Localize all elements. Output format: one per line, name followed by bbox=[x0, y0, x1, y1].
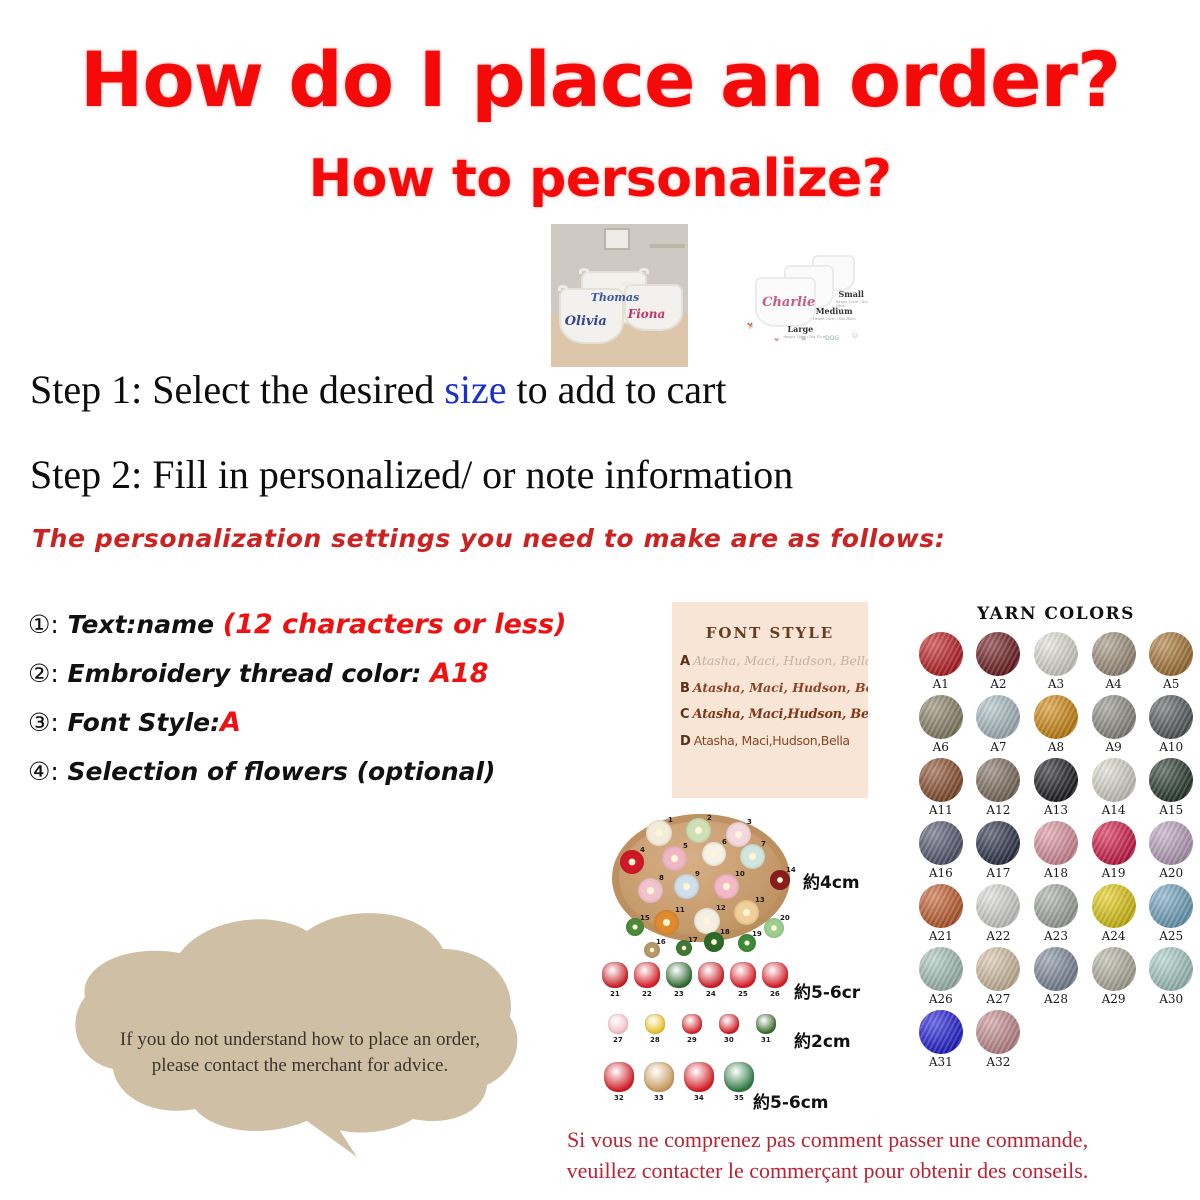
yarn-swatch-a17[interactable]: A17 bbox=[970, 821, 1028, 880]
font-style-title: FONT STYLE bbox=[672, 624, 868, 642]
yarn-swatch-a12[interactable]: A12 bbox=[970, 758, 1028, 817]
yarn-swatch-a9[interactable]: A9 bbox=[1085, 695, 1143, 754]
basket-size-chart-photo: Charlie Small Height 12cm / Dia 20cm Med… bbox=[742, 228, 876, 350]
dog-doodle-icon: 🐕 bbox=[747, 323, 754, 330]
yarn-ball-icon bbox=[919, 1010, 963, 1054]
flower-charms-board: 1234567891011121314151617181920 21222324… bbox=[598, 812, 908, 1122]
charm-number-label: 32 bbox=[614, 1094, 624, 1102]
size-sub-medium: Height 15cm / Dia 26cm bbox=[813, 317, 856, 321]
yarn-ball-icon bbox=[1092, 947, 1136, 991]
yarn-code-label: A25 bbox=[1159, 929, 1183, 943]
charm-santa-head-34[interactable] bbox=[684, 1062, 714, 1092]
charm-pine-tree-35[interactable] bbox=[724, 1062, 754, 1092]
yarn-code-label: A32 bbox=[986, 1055, 1010, 1069]
yarn-swatch-a26[interactable]: A26 bbox=[912, 947, 970, 1006]
charm-number-label: 4 bbox=[640, 846, 645, 854]
size-note-2cm: 約2cm bbox=[794, 1027, 851, 1052]
yarn-ball-icon bbox=[1034, 821, 1078, 865]
yarn-code-label: A9 bbox=[1105, 740, 1121, 754]
yarn-swatch-a29[interactable]: A29 bbox=[1085, 947, 1143, 1006]
yarn-code-label: A1 bbox=[933, 677, 949, 691]
font-style-key-c: C bbox=[680, 707, 690, 722]
charm-number-label: 18 bbox=[720, 928, 730, 936]
step-1-text-after: to add to cart bbox=[507, 367, 727, 412]
yarn-code-label: A11 bbox=[929, 803, 953, 817]
yarn-ball-icon bbox=[1092, 884, 1136, 928]
font-style-sample-b: Atasha, Maci, Hudson, Bella bbox=[693, 680, 868, 695]
yarn-colors-title: YARN COLORS bbox=[912, 604, 1200, 624]
charm-number-label: 30 bbox=[724, 1036, 734, 1044]
font-style-key-a: A bbox=[680, 654, 690, 669]
yarn-ball-icon bbox=[1149, 758, 1193, 802]
yarn-code-label: A26 bbox=[929, 992, 953, 1006]
yarn-code-label: A14 bbox=[1102, 803, 1126, 817]
bone-doodle-icon: ● bbox=[801, 335, 806, 342]
yarn-code-label: A8 bbox=[1048, 740, 1064, 754]
yarn-colors-panel: YARN COLORS A1A2A3A4A5A6A7A8A9A10A11A12A… bbox=[912, 604, 1200, 1069]
step-1-label: Step 1: bbox=[30, 367, 142, 412]
step-1-line: Step 1: Select the desired size to add t… bbox=[30, 367, 726, 413]
step-2-label: Step 2: bbox=[30, 452, 142, 497]
page-title-primary: How do I place an order? bbox=[0, 38, 1200, 122]
yarn-ball-icon bbox=[1092, 632, 1136, 676]
yarn-ball-icon bbox=[976, 821, 1020, 865]
list-highlight-1: (12 characters or less) bbox=[223, 609, 567, 640]
step-1-text-before: Select the desired bbox=[142, 367, 444, 412]
font-style-panel: FONT STYLE A Atasha, Maci, Hudson, Bella… bbox=[672, 602, 868, 798]
yarn-code-label: A13 bbox=[1044, 803, 1068, 817]
list-marker-2: ②: bbox=[28, 659, 59, 688]
yarn-ball-icon bbox=[976, 884, 1020, 928]
font-style-option-d[interactable]: D Atasha, Maci,Hudson,Bella bbox=[680, 733, 868, 749]
font-style-sample-d: Atasha, Maci,Hudson,Bella bbox=[694, 733, 850, 748]
list-marker-4: ④: bbox=[28, 757, 59, 786]
yarn-ball-icon bbox=[976, 947, 1020, 991]
yarn-ball-icon bbox=[919, 947, 963, 991]
yarn-ball-icon bbox=[1092, 758, 1136, 802]
yarn-code-label: A5 bbox=[1163, 677, 1179, 691]
yarn-swatch-a18[interactable]: A18 bbox=[1027, 821, 1085, 880]
yarn-code-label: A3 bbox=[1048, 677, 1064, 691]
yarn-swatch-a32[interactable]: A32 bbox=[970, 1010, 1028, 1069]
charm-number-label: 23 bbox=[674, 990, 684, 998]
yarn-swatch-a11[interactable]: A11 bbox=[912, 758, 970, 817]
yarn-code-label: A31 bbox=[929, 1055, 953, 1069]
yarn-code-label: A16 bbox=[929, 866, 953, 880]
yarn-swatch-a5[interactable]: A5 bbox=[1142, 632, 1200, 691]
yarn-code-label: A4 bbox=[1105, 677, 1121, 691]
list-highlight-2: A18 bbox=[430, 658, 488, 689]
yarn-ball-icon bbox=[919, 884, 963, 928]
cat-doodle-icon: 🐱 bbox=[852, 333, 858, 340]
charm-number-label: 20 bbox=[780, 914, 790, 922]
yarn-ball-icon bbox=[1034, 947, 1078, 991]
charm-number-label: 9 bbox=[695, 870, 700, 878]
yarn-ball-icon bbox=[919, 632, 963, 676]
list-highlight-3: A bbox=[220, 707, 241, 738]
yarn-swatch-a20[interactable]: A20 bbox=[1142, 821, 1200, 880]
font-style-sample-c: Atasha, Maci,Hudson, Bella bbox=[693, 707, 868, 722]
charm-number-label: 15 bbox=[640, 914, 650, 922]
charm-number-label: 5 bbox=[683, 842, 688, 850]
charm-number-label: 33 bbox=[654, 1094, 664, 1102]
charm-number-label: 2 bbox=[707, 814, 712, 822]
yarn-ball-icon bbox=[1149, 884, 1193, 928]
yarn-ball-icon bbox=[976, 1010, 1020, 1054]
charm-number-label: 27 bbox=[613, 1036, 623, 1044]
charm-cherry-30[interactable] bbox=[719, 1014, 739, 1034]
list-text-3: Font Style: bbox=[59, 708, 220, 737]
yarn-swatch-a19[interactable]: A19 bbox=[1085, 821, 1143, 880]
charm-number-label: 22 bbox=[642, 990, 652, 998]
charm-stocking-21[interactable] bbox=[602, 962, 628, 988]
charm-number-label: 7 bbox=[761, 840, 766, 848]
charm-number-label: 17 bbox=[688, 936, 698, 944]
size-label-large: Large bbox=[788, 324, 814, 334]
font-style-sample-a: Atasha, Maci, Hudson, Bella bbox=[693, 653, 868, 668]
yarn-swatch-a31[interactable]: A31 bbox=[912, 1010, 970, 1069]
charm-santa-star-26[interactable] bbox=[762, 962, 788, 988]
yarn-ball-icon bbox=[976, 632, 1020, 676]
list-marker-3: ③: bbox=[28, 708, 59, 737]
yarn-code-label: A15 bbox=[1159, 803, 1183, 817]
yarn-swatch-a3[interactable]: A3 bbox=[1027, 632, 1085, 691]
yarn-ball-icon bbox=[1034, 695, 1078, 739]
yarn-swatch-a28[interactable]: A28 bbox=[1027, 947, 1085, 1006]
yarn-swatch-a10[interactable]: A10 bbox=[1142, 695, 1200, 754]
yarn-swatch-a27[interactable]: A27 bbox=[970, 947, 1028, 1006]
yarn-code-label: A20 bbox=[1159, 866, 1183, 880]
size-note-5-6cr: 約5-6cr bbox=[794, 978, 860, 1003]
charm-number-label: 6 bbox=[722, 838, 727, 846]
charm-number-label: 13 bbox=[755, 896, 765, 904]
yarn-code-label: A18 bbox=[1044, 866, 1068, 880]
size-label-small: Small bbox=[838, 289, 864, 299]
yarn-swatch-a8[interactable]: A8 bbox=[1027, 695, 1085, 754]
photo-shelf bbox=[650, 244, 686, 248]
personalized-baskets-photo: Thomas Olivia Fiona bbox=[551, 224, 688, 367]
yarn-ball-icon bbox=[1149, 821, 1193, 865]
charm-number-label: 8 bbox=[659, 874, 664, 882]
yarn-code-label: A23 bbox=[1044, 929, 1068, 943]
charm-number-label: 28 bbox=[650, 1036, 660, 1044]
basket-name-olivia: Olivia bbox=[565, 314, 607, 329]
yarn-code-label: A10 bbox=[1159, 740, 1183, 754]
font-style-option-c[interactable]: C Atasha, Maci,Hudson, Bella bbox=[680, 707, 868, 722]
yarn-swatch-a2[interactable]: A2 bbox=[970, 632, 1028, 691]
french-line-2: veuillez contacter le commerçant pour ob… bbox=[455, 1155, 1200, 1186]
yarn-ball-icon bbox=[1092, 821, 1136, 865]
charm-number-label: 29 bbox=[687, 1036, 697, 1044]
list-text-1: Text:name bbox=[59, 610, 223, 639]
charm-reindeer-33[interactable] bbox=[644, 1062, 674, 1092]
size-note-4cm: 約4cm bbox=[803, 868, 860, 893]
yarn-swatch-a16[interactable]: A16 bbox=[912, 821, 970, 880]
charm-number-label: 14 bbox=[786, 866, 796, 874]
charm-bell-25[interactable] bbox=[730, 962, 756, 988]
yarn-swatch-a1[interactable]: A1 bbox=[912, 632, 970, 691]
yarn-swatch-a4[interactable]: A4 bbox=[1085, 632, 1143, 691]
font-style-option-a[interactable]: A Atasha, Maci, Hudson, Bella bbox=[680, 653, 868, 669]
yarn-ball-icon bbox=[1034, 632, 1078, 676]
charm-number-label: 21 bbox=[610, 990, 620, 998]
charm-santa-face-22[interactable] bbox=[634, 962, 660, 988]
yarn-code-label: A12 bbox=[986, 803, 1010, 817]
yarn-code-label: A17 bbox=[986, 866, 1010, 880]
charm-number-label: 31 bbox=[761, 1036, 771, 1044]
advice-line-1: If you do not understand how to place an… bbox=[55, 1027, 545, 1053]
photo-picture-frame bbox=[604, 228, 630, 249]
french-line-1: Si vous ne comprenez pas comment passer … bbox=[455, 1124, 1200, 1155]
dog-word-doodle: DOG bbox=[825, 335, 839, 342]
font-style-option-b[interactable]: B Atasha, Maci, Hudson, Bella bbox=[680, 680, 868, 696]
personalization-intro-text: The personalization settings you need to… bbox=[32, 524, 945, 554]
yarn-swatch-a6[interactable]: A6 bbox=[912, 695, 970, 754]
paw-doodle-icon: ❤ bbox=[774, 337, 779, 344]
yarn-code-label: A27 bbox=[986, 992, 1010, 1006]
charm-strawberry-29[interactable] bbox=[682, 1014, 702, 1034]
advice-bubble-text: If you do not understand how to place an… bbox=[55, 1027, 545, 1079]
basket-name-thomas: Thomas bbox=[591, 291, 639, 304]
yarn-code-label: A7 bbox=[990, 740, 1006, 754]
charm-number-label: 3 bbox=[747, 818, 752, 826]
yarn-code-label: A28 bbox=[1044, 992, 1068, 1006]
charm-number-label: 12 bbox=[716, 904, 726, 912]
yarn-ball-icon bbox=[1149, 695, 1193, 739]
list-item: ①: Text:name (12 characters or less) bbox=[28, 600, 668, 649]
charm-peach-27[interactable] bbox=[608, 1014, 628, 1034]
yarn-swatch-a30[interactable]: A30 bbox=[1142, 947, 1200, 1006]
list-text-2: Embroidery thread color: bbox=[59, 659, 430, 688]
yarn-swatch-a24[interactable]: A24 bbox=[1085, 884, 1143, 943]
charm-number-label: 34 bbox=[694, 1094, 704, 1102]
list-item: ③: Font Style:A bbox=[28, 698, 668, 747]
yarn-code-label: A30 bbox=[1159, 992, 1183, 1006]
yarn-code-label: A21 bbox=[929, 929, 953, 943]
yarn-swatch-a15[interactable]: A15 bbox=[1142, 758, 1200, 817]
yarn-swatch-a23[interactable]: A23 bbox=[1027, 884, 1085, 943]
yarn-code-label: A22 bbox=[986, 929, 1010, 943]
infographic-page: How do I place an order? How to personal… bbox=[0, 0, 1200, 1200]
yarn-swatch-a22[interactable]: A22 bbox=[970, 884, 1028, 943]
charm-number-label: 25 bbox=[738, 990, 748, 998]
charm-number-label: 19 bbox=[752, 930, 762, 938]
yarn-ball-icon bbox=[919, 758, 963, 802]
personalization-requirements-list: ①: Text:name (12 characters or less) ②: … bbox=[28, 600, 668, 796]
yarn-code-label: A2 bbox=[990, 677, 1006, 691]
charm-number-label: 1 bbox=[668, 816, 673, 824]
yarn-swatch-a21[interactable]: A21 bbox=[912, 884, 970, 943]
yarn-ball-icon bbox=[1034, 758, 1078, 802]
list-item: ②: Embroidery thread color: A18 bbox=[28, 649, 668, 698]
yarn-code-label: A6 bbox=[933, 740, 949, 754]
yarn-ball-icon bbox=[976, 695, 1020, 739]
yarn-swatch-a14[interactable]: A14 bbox=[1085, 758, 1143, 817]
charm-number-label: 11 bbox=[675, 906, 685, 914]
advice-speech-bubble: If you do not understand how to place an… bbox=[55, 905, 545, 1160]
french-advice-text: Si vous ne comprenez pas comment passer … bbox=[455, 1124, 1200, 1186]
step-2-text: Fill in personalized/ or note informatio… bbox=[142, 452, 793, 497]
charm-tree-23[interactable] bbox=[666, 962, 692, 988]
font-style-key-b: B bbox=[680, 681, 690, 696]
yarn-ball-icon bbox=[1034, 884, 1078, 928]
charm-number-label: 26 bbox=[770, 990, 780, 998]
list-item: ④: Selection of flowers (optional) bbox=[28, 747, 668, 796]
yarn-ball-icon bbox=[1149, 947, 1193, 991]
size-basket-name: Charlie bbox=[762, 295, 815, 310]
size-note-5-6cm: 約5-6cm bbox=[753, 1088, 829, 1113]
charm-number-label: 16 bbox=[656, 938, 666, 946]
yarn-swatch-a7[interactable]: A7 bbox=[970, 695, 1028, 754]
yarn-code-label: A29 bbox=[1102, 992, 1126, 1006]
yarn-code-label: A19 bbox=[1102, 866, 1126, 880]
step-1-size-highlight[interactable]: size bbox=[444, 367, 506, 412]
yarn-swatch-a25[interactable]: A25 bbox=[1142, 884, 1200, 943]
charm-avocado-31[interactable] bbox=[756, 1014, 776, 1034]
yarn-swatch-a13[interactable]: A13 bbox=[1027, 758, 1085, 817]
size-label-medium: Medium bbox=[816, 306, 853, 316]
charm-santa-hat-32[interactable] bbox=[604, 1062, 634, 1092]
yarn-colors-grid: A1A2A3A4A5A6A7A8A9A10A11A12A13A14A15A16A… bbox=[912, 632, 1200, 1069]
yarn-code-label: A24 bbox=[1102, 929, 1126, 943]
charm-pineapple-28[interactable] bbox=[645, 1014, 665, 1034]
yarn-ball-icon bbox=[919, 695, 963, 739]
yarn-ball-icon bbox=[919, 821, 963, 865]
yarn-ball-icon bbox=[1092, 695, 1136, 739]
yarn-ball-icon bbox=[976, 758, 1020, 802]
charm-number-label: 24 bbox=[706, 990, 716, 998]
font-style-key-d: D bbox=[680, 734, 691, 749]
page-title-secondary: How to personalize? bbox=[0, 150, 1200, 208]
basket-name-fiona: Fiona bbox=[628, 307, 666, 321]
step-2-line: Step 2: Fill in personalized/ or note in… bbox=[30, 452, 793, 498]
charm-snowman-24[interactable] bbox=[698, 962, 724, 988]
list-text-4: Selection of flowers (optional) bbox=[59, 757, 496, 786]
advice-line-2: please contact the merchant for advice. bbox=[55, 1053, 545, 1079]
list-marker-1: ①: bbox=[28, 610, 59, 639]
charm-number-label: 35 bbox=[734, 1094, 744, 1102]
charm-number-label: 10 bbox=[735, 870, 745, 878]
yarn-ball-icon bbox=[1149, 632, 1193, 676]
